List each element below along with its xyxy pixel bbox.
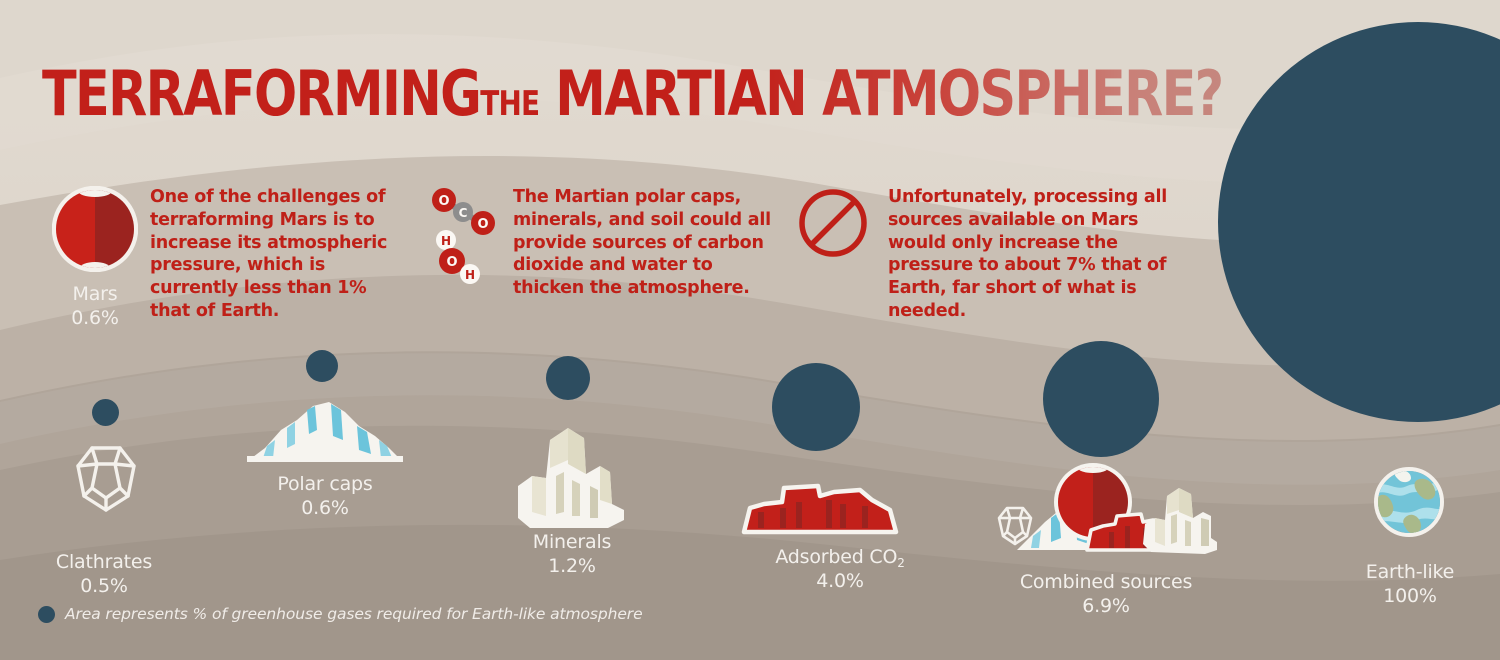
clathrate-cage-icon (62, 440, 150, 522)
combined-dot (1043, 341, 1159, 457)
combined-label: Combined sources 6.9% (988, 570, 1224, 619)
adsorbedco2-dot (772, 363, 860, 451)
atom-c: C (459, 206, 468, 220)
title-part1: TERRAFORMING (42, 57, 480, 130)
prohibition-icon (797, 187, 869, 259)
clathrates-value: 0.5% (14, 574, 194, 598)
combined-sources-icon (993, 462, 1219, 554)
mars-label: Mars 0.6% (52, 282, 138, 331)
minerals-value: 1.2% (492, 554, 652, 578)
earth-reference-circle (1218, 22, 1500, 422)
red-mesa-icon (740, 478, 900, 536)
polarcaps-label: Polar caps 0.6% (240, 472, 410, 521)
atom-o1: O (438, 194, 449, 209)
blurb-shortfall: Unfortunately, processing all sources av… (888, 186, 1173, 323)
minerals-dot (546, 356, 590, 400)
mineral-rock-icon (512, 420, 627, 530)
mars-value: 0.6% (52, 306, 138, 330)
minerals-label: Minerals 1.2% (492, 530, 652, 579)
earthlike-label: Earth-like 100% (1330, 560, 1490, 609)
atom-o3: O (446, 255, 457, 270)
atom-h2: H (465, 268, 475, 282)
clathrates-label: Clathrates 0.5% (14, 550, 194, 599)
atom-h1: H (441, 234, 451, 248)
molecules-icon: O C O H O H (426, 186, 506, 286)
earth-globe-icon (1373, 466, 1445, 538)
mars-sphere-icon (52, 186, 138, 272)
adsorbedco2-value: 4.0% (730, 569, 950, 593)
page-title: TERRAFORMINGTHE MARTIAN ATMOSPHERE? (42, 63, 1223, 125)
legend-dot-icon (38, 606, 55, 623)
blurb-sources: The Martian polar caps, minerals, and so… (513, 186, 771, 300)
polarcaps-dot (306, 350, 338, 382)
combined-value: 6.9% (988, 594, 1224, 618)
legend-text: Area represents % of greenhouse gases re… (65, 605, 643, 623)
ice-cap-icon (247, 400, 403, 462)
adsorbedco2-subscript: 2 (897, 556, 904, 570)
blurb-pressure: One of the challenges of terraforming Ma… (150, 186, 395, 323)
title-connector: THE (480, 84, 539, 124)
clathrates-dot (92, 399, 119, 426)
polarcaps-value: 0.6% (240, 496, 410, 520)
legend: Area represents % of greenhouse gases re… (38, 605, 643, 623)
infographic-canvas: TERRAFORMINGTHE MARTIAN ATMOSPHERE? Mars… (0, 0, 1500, 660)
adsorbedco2-label: Adsorbed CO2 4.0% (730, 545, 950, 594)
earthlike-value: 100% (1330, 584, 1490, 608)
title-part2: MARTIAN ATMOSPHERE? (555, 57, 1222, 130)
atom-o2: O (477, 217, 488, 232)
adsorbedco2-name: Adsorbed CO (775, 546, 897, 568)
